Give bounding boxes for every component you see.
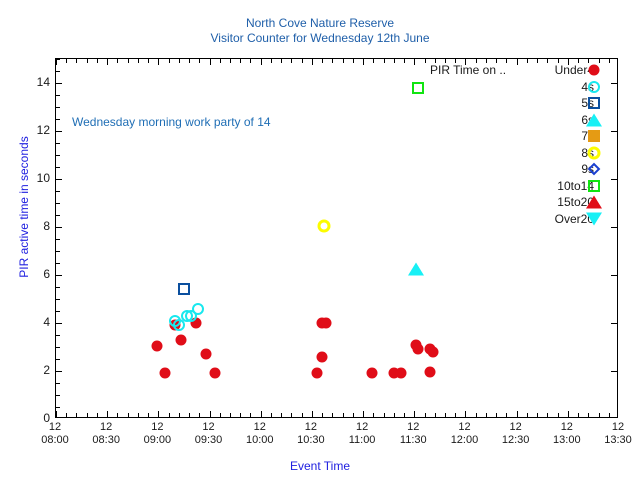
x-axis-tick [220,413,221,417]
data-point-Under4 [160,368,171,379]
x-axis-tick [322,59,323,63]
legend-marker-6s [586,113,602,126]
chart-title-line1: North Cove Nature Reserve [0,16,640,30]
y-axis-tick [56,275,62,276]
y-axis-tick [56,347,60,348]
x-axis-tick [56,411,57,417]
x-axis-tick [343,413,344,417]
x-axis-tick [332,413,333,417]
x-axis-tick [465,411,466,417]
data-point-Under4 [428,346,439,357]
y-axis-tick [56,395,60,396]
x-axis-tick [537,413,538,417]
x-axis-tick [517,411,518,417]
y-axis-tick [56,263,60,264]
y-axis-tick [56,83,62,84]
x-axis-tick-labels: 1208:001208:301209:001209:301210:001210:… [55,421,618,451]
x-axis-tick [414,59,415,65]
legend-marker-8s [588,146,601,159]
y-axis-tick [56,287,60,288]
x-axis-tick [568,411,569,417]
data-point-10to14 [412,82,424,94]
data-point-Under4 [412,344,423,355]
x-axis-tick [322,413,323,417]
x-axis-tick [384,413,385,417]
y-axis-tick-right [611,371,617,372]
x-axis-tick [66,413,67,417]
x-axis-tick [220,59,221,63]
y-axis-tick [56,179,62,180]
x-axis-tick [189,413,190,417]
x-axis-tick [261,59,262,65]
y-axis-tick-label: 14 [2,76,50,88]
y-axis-tick-right [611,227,617,228]
x-axis-tick [384,59,385,63]
x-axis-tick [179,59,180,63]
x-axis-tick [425,59,426,63]
y-axis-tick-right [611,323,617,324]
x-axis-tick [271,413,272,417]
x-axis-tick [117,59,118,63]
x-axis-tick [76,59,77,63]
y-axis-tick [56,167,60,168]
legend-entry[interactable]: 5s [430,95,630,112]
legend-entry[interactable]: 8s [430,145,630,162]
x-axis-tick [97,59,98,63]
legend-entry[interactable]: 15to20 [430,194,630,211]
legend-marker-7s [588,130,600,142]
x-axis-tick [199,59,200,63]
y-axis-tick-right [611,275,617,276]
legend-entry[interactable]: Over20 [430,211,630,228]
x-axis-tick [107,59,108,65]
x-axis-tick [435,413,436,417]
x-axis-tick [302,59,303,63]
y-axis-tick [56,203,60,204]
x-axis-tick-label: 1213:30 [588,421,640,447]
chart-title-line2: Visitor Counter for Wednesday 12th June [0,31,640,45]
x-axis-tick [76,413,77,417]
legend-entry[interactable]: 7s [430,128,630,145]
y-axis-tick [56,215,60,216]
x-axis-tick [97,413,98,417]
y-axis-tick [56,131,62,132]
legend-marker-Under4 [589,65,600,76]
y-axis-tick [56,383,60,384]
y-axis-tick [56,299,60,300]
x-axis-tick [414,411,415,417]
legend-entry[interactable]: 10to14 [430,178,630,195]
x-axis-tick [363,411,364,417]
x-axis-tick [250,59,251,63]
x-axis-tick [169,59,170,63]
x-axis-tick [138,413,139,417]
legend-marker-Over20 [586,212,602,225]
y-axis-tick [56,371,62,372]
y-axis-tick [56,251,60,252]
data-point-Under4 [320,318,331,329]
x-axis-tick [169,413,170,417]
y-axis-tick-label: 4 [2,316,50,328]
x-axis-tick [445,413,446,417]
legend-marker-15to20 [586,196,602,209]
x-axis-tick [404,413,405,417]
x-axis-title: Event Time [0,459,640,473]
legend-entry[interactable]: 9s [430,161,630,178]
x-axis-tick [486,413,487,417]
y-axis-tick-label: 12 [2,124,50,136]
x-axis-tick [189,59,190,63]
y-axis-tick-label: 6 [2,268,50,280]
x-axis-tick [353,413,354,417]
x-axis-tick [138,59,139,63]
chart-legend: PIR Time on .. Under44s5s6s7s8s9s10to141… [430,62,630,227]
x-axis-tick [87,413,88,417]
x-axis-tick [394,413,395,417]
x-axis-tick [128,59,129,63]
y-axis-tick [56,239,60,240]
x-axis-tick [404,59,405,63]
x-axis-tick [271,59,272,63]
x-axis-tick [547,413,548,417]
data-point-Under4 [209,368,220,379]
x-axis-tick [230,413,231,417]
data-point-4s [192,303,204,315]
y-axis-tick-label: 10 [2,172,50,184]
x-axis-tick [158,59,159,65]
legend-entry[interactable]: 6s [430,112,630,129]
y-axis-tick [56,119,60,120]
x-axis-tick [373,59,374,63]
x-axis-tick [281,413,282,417]
chart-canvas: North Cove Nature Reserve Visitor Counte… [0,0,640,480]
x-axis-tick [291,413,292,417]
legend-marker-4s [588,81,600,93]
x-axis-tick [148,413,149,417]
data-point-Under4 [366,368,377,379]
data-point-4s [173,319,185,331]
data-point-Under4 [175,334,186,345]
x-axis-tick [250,413,251,417]
legend-marker-10to14 [588,180,600,192]
x-axis-tick [394,59,395,63]
x-axis-tick [476,413,477,417]
x-axis-tick [363,59,364,65]
x-axis-tick [496,413,497,417]
x-axis-tick [455,413,456,417]
x-axis-tick [117,413,118,417]
x-axis-tick [148,59,149,63]
y-axis-tick [56,227,62,228]
x-axis-tick [128,413,129,417]
x-axis-tick [240,59,241,63]
x-axis-tick [578,413,579,417]
x-axis-tick [332,59,333,63]
y-axis-tick [56,95,60,96]
x-axis-tick [312,411,313,417]
x-axis-tick [558,413,559,417]
legend-entry[interactable]: 4s [430,79,630,96]
x-axis-tick [373,413,374,417]
x-axis-tick [66,59,67,63]
legend-entry[interactable]: Under4 [430,62,630,79]
data-point-Under4 [424,367,435,378]
y-axis-tick [56,359,60,360]
x-axis-tick [609,413,610,417]
x-axis-tick [210,59,211,65]
x-axis-tick [588,413,589,417]
y-axis-tick-label: 2 [2,364,50,376]
x-axis-tick [291,59,292,63]
data-point-6s [408,263,424,276]
y-axis-tick [56,143,60,144]
x-axis-tick [343,59,344,63]
x-axis-tick [210,411,211,417]
x-axis-tick [56,59,57,65]
x-axis-tick [281,59,282,63]
data-point-Under4 [151,340,162,351]
y-axis-tick [56,335,60,336]
y-axis-tick [56,407,60,408]
x-axis-tick [506,413,507,417]
y-axis-tick [56,155,60,156]
x-axis-tick [240,413,241,417]
x-axis-tick [107,411,108,417]
x-axis-tick [261,411,262,417]
x-axis-tick [179,413,180,417]
data-point-Under4 [395,368,406,379]
y-axis-tick [56,311,60,312]
x-axis-tick [599,413,600,417]
x-axis-tick [527,413,528,417]
y-axis-tick [56,107,60,108]
x-axis-tick [353,59,354,63]
data-point-Under4 [312,368,323,379]
data-point-8s [317,219,330,232]
y-axis-tick-label: 8 [2,220,50,232]
data-point-Under4 [317,351,328,362]
x-axis-tick [302,413,303,417]
x-axis-tick [87,59,88,63]
legend-marker-5s [588,97,600,109]
x-axis-tick [425,413,426,417]
y-axis-tick [56,323,62,324]
x-axis-tick [158,411,159,417]
y-axis-tick-labels: 02468101214 [0,58,50,418]
y-axis-tick [56,191,60,192]
x-axis-tick [312,59,313,65]
data-point-5s [178,283,190,295]
x-axis-tick [199,413,200,417]
x-axis-tick [230,59,231,63]
y-axis-tick [56,71,60,72]
data-point-Under4 [201,349,212,360]
